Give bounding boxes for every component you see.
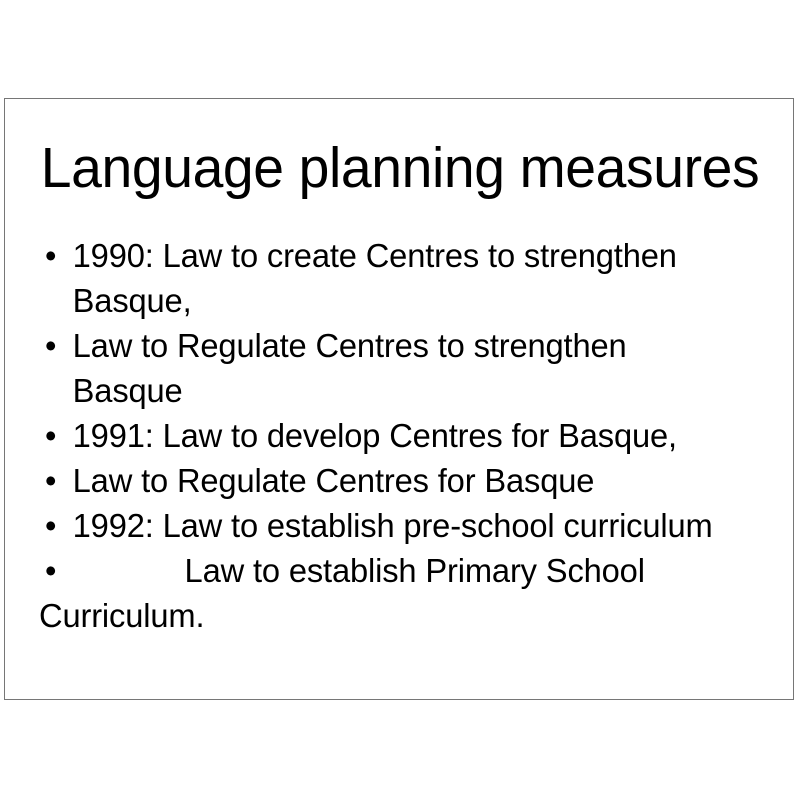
bullet-item-1990-create-centres: • 1990: Law to create Centres to strengt… bbox=[39, 233, 742, 323]
bullet-marker-icon: • bbox=[45, 503, 61, 548]
slide-canvas: Language planning measures • 1990: Law t… bbox=[4, 98, 794, 700]
bullet-marker-icon: • bbox=[45, 548, 61, 593]
bullet-item-regulate-centres-for-basque: • Law to Regulate Centres for Basque bbox=[39, 458, 742, 503]
bullet-text: 1991: Law to develop Centres for Basque, bbox=[73, 417, 677, 454]
bullet-text: Law to Regulate Centres to strengthen Ba… bbox=[73, 327, 627, 409]
bullet-marker-icon: • bbox=[45, 233, 61, 278]
bullet-marker-icon: • bbox=[45, 413, 61, 458]
bullet-text: 1992: Law to establish pre-school curric… bbox=[73, 507, 713, 544]
bullet-item-regulate-centres-strengthen: • Law to Regulate Centres to strengthen … bbox=[39, 323, 742, 413]
bullet-text: Law to Regulate Centres for Basque bbox=[73, 462, 595, 499]
bullet-list: • 1990: Law to create Centres to strengt… bbox=[39, 233, 749, 638]
bullet-item-primary-school-curriculum: • Law to establish Primary School Curric… bbox=[39, 548, 742, 638]
bullet-marker-icon: • bbox=[45, 458, 61, 503]
bullet-marker-icon: • bbox=[45, 323, 61, 368]
bullet-text-continuation: Curriculum. bbox=[39, 593, 742, 638]
bullet-item-1992-preschool-curriculum: • 1992: Law to establish pre-school curr… bbox=[39, 503, 742, 548]
bullet-text: 1990: Law to create Centres to strengthe… bbox=[73, 237, 677, 319]
bullet-text: Law to establish Primary School bbox=[185, 552, 645, 589]
slide-title: Language planning measures bbox=[17, 137, 783, 199]
bullet-item-1991-develop-centres: • 1991: Law to develop Centres for Basqu… bbox=[39, 413, 742, 458]
